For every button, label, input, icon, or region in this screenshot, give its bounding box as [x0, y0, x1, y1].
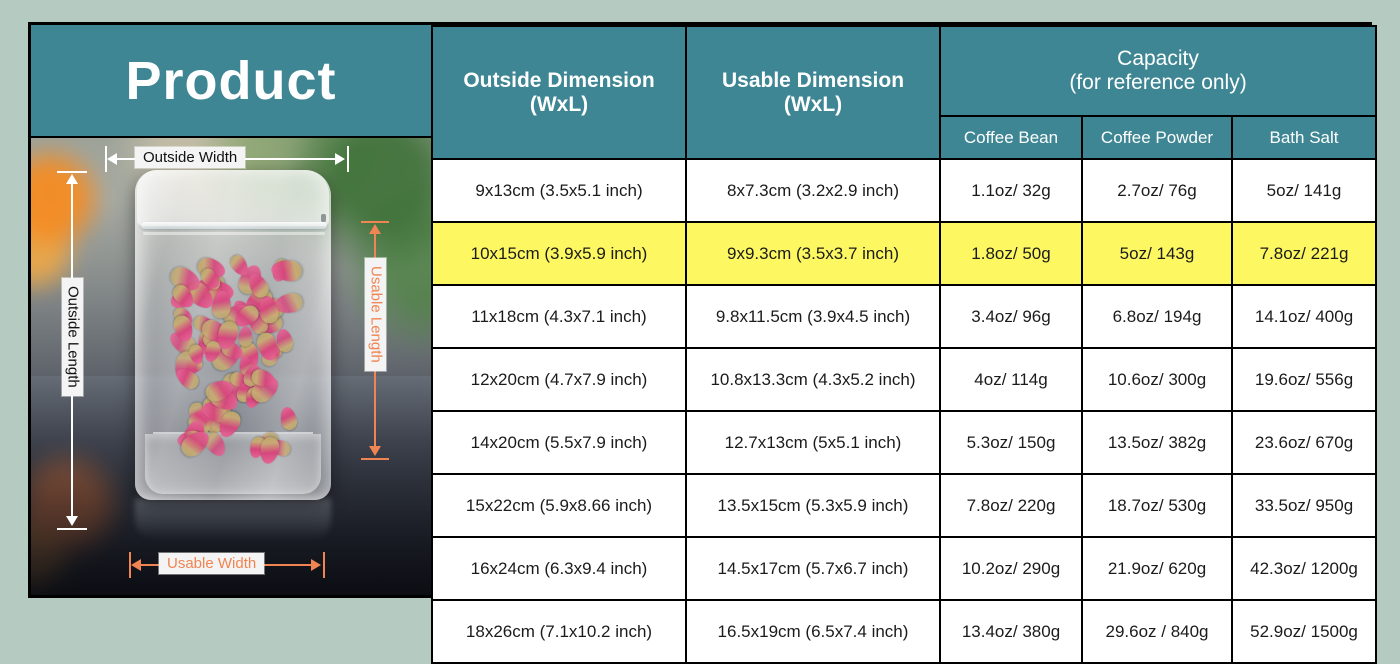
col-header-bath-salt: Bath Salt: [1232, 116, 1376, 159]
table-head: Outside Dimension (WxL) Usable Dimension…: [432, 26, 1376, 159]
cell-usable-dimension: 8x7.3cm (3.2x2.9 inch): [686, 159, 940, 222]
cell-coffee-bean: 3.4oz/ 96g: [940, 285, 1082, 348]
usable-length-arrowhead-top: [369, 224, 381, 234]
cell-bath-salt: 5oz/ 141g: [1232, 159, 1376, 222]
cell-outside-dimension: 14x20cm (5.5x7.9 inch): [432, 411, 686, 474]
usable-dimension-line1: Usable Dimension: [722, 69, 904, 92]
col-header-coffee-powder: Coffee Powder: [1082, 116, 1232, 159]
spec-table: Outside Dimension (WxL) Usable Dimension…: [431, 25, 1377, 664]
cell-outside-dimension: 18x26cm (7.1x10.2 inch): [432, 600, 686, 663]
usable-length-cap-top: [361, 221, 389, 223]
cell-coffee-powder: 18.7oz/ 530g: [1082, 474, 1232, 537]
header-row-main: Outside Dimension (WxL) Usable Dimension…: [432, 26, 1376, 116]
outside-width-arrowhead-left: [107, 153, 117, 165]
usable-length-arrowhead-bottom: [369, 446, 381, 456]
cell-bath-salt: 7.8oz/ 221g: [1232, 222, 1376, 285]
outside-length-arrowhead-top: [66, 174, 78, 184]
table-row: 15x22cm (5.9x8.66 inch)13.5x15cm (5.3x5.…: [432, 474, 1376, 537]
cell-bath-salt: 19.6oz/ 556g: [1232, 348, 1376, 411]
cell-bath-salt: 52.9oz/ 1500g: [1232, 600, 1376, 663]
cell-coffee-powder: 10.6oz/ 300g: [1082, 348, 1232, 411]
product-panel: Product Outside Width: [31, 25, 431, 595]
table-row: 16x24cm (6.3x9.4 inch)14.5x17cm (5.7x6.7…: [432, 537, 1376, 600]
cell-coffee-powder: 21.9oz/ 620g: [1082, 537, 1232, 600]
cell-usable-dimension: 16.5x19cm (6.5x7.4 inch): [686, 600, 940, 663]
outside-length-cap-bottom: [57, 528, 87, 530]
usable-dimension-line2: (WxL): [784, 93, 842, 116]
col-header-capacity: Capacity (for reference only): [940, 26, 1376, 116]
cell-coffee-powder: 6.8oz/ 194g: [1082, 285, 1232, 348]
cell-usable-dimension: 9x9.3cm (3.5x3.7 inch): [686, 222, 940, 285]
table-row: 10x15cm (3.9x5.9 inch)9x9.3cm (3.5x3.7 i…: [432, 222, 1376, 285]
cell-usable-dimension: 14.5x17cm (5.7x6.7 inch): [686, 537, 940, 600]
table-body: 9x13cm (3.5x5.1 inch)8x7.3cm (3.2x2.9 in…: [432, 159, 1376, 663]
col-header-coffee-bean: Coffee Bean: [940, 116, 1082, 159]
col-header-outside-dimension: Outside Dimension (WxL): [432, 26, 686, 159]
cell-coffee-powder: 13.5oz/ 382g: [1082, 411, 1232, 474]
cell-coffee-bean: 10.2oz/ 290g: [940, 537, 1082, 600]
outside-dimension-line2: (WxL): [530, 93, 588, 116]
cell-usable-dimension: 10.8x13.3cm (4.3x5.2 inch): [686, 348, 940, 411]
table-row: 12x20cm (4.7x7.9 inch)10.8x13.3cm (4.3x5…: [432, 348, 1376, 411]
capacity-line1: Capacity: [1117, 47, 1199, 70]
capacity-line2: (for reference only): [1069, 71, 1246, 94]
table-row: 9x13cm (3.5x5.1 inch)8x7.3cm (3.2x2.9 in…: [432, 159, 1376, 222]
pouch-reflection: [135, 498, 331, 540]
zipper-seal-secondary: [143, 232, 325, 235]
cell-bath-salt: 14.1oz/ 400g: [1232, 285, 1376, 348]
outside-length-cap-top: [57, 171, 87, 173]
cell-coffee-powder: 2.7oz/ 76g: [1082, 159, 1232, 222]
outside-dimension-line1: Outside Dimension: [463, 69, 654, 92]
cell-usable-dimension: 9.8x11.5cm (3.9x4.5 inch): [686, 285, 940, 348]
rosebud: [237, 326, 252, 347]
cell-usable-dimension: 13.5x15cm (5.3x5.9 inch): [686, 474, 940, 537]
cell-usable-dimension: 12.7x13cm (5x5.1 inch): [686, 411, 940, 474]
cell-outside-dimension: 12x20cm (4.7x7.9 inch): [432, 348, 686, 411]
cell-outside-dimension: 16x24cm (6.3x9.4 inch): [432, 537, 686, 600]
usable-width-arrowhead-right: [311, 559, 321, 571]
usable-width-cap-right: [323, 552, 325, 578]
pouch-top-panel: [137, 170, 329, 226]
cell-outside-dimension: 15x22cm (5.9x8.66 inch): [432, 474, 686, 537]
col-header-usable-dimension: Usable Dimension (WxL): [686, 26, 940, 159]
rosebud: [278, 405, 298, 431]
cell-coffee-bean: 1.8oz/ 50g: [940, 222, 1082, 285]
cell-coffee-bean: 7.8oz/ 220g: [940, 474, 1082, 537]
cell-coffee-bean: 5.3oz/ 150g: [940, 411, 1082, 474]
cell-coffee-bean: 4oz/ 114g: [940, 348, 1082, 411]
zipper-seal: [141, 222, 327, 229]
cell-bath-salt: 42.3oz/ 1200g: [1232, 537, 1376, 600]
usable-width-label: Usable Width: [159, 553, 264, 574]
cell-coffee-bean: 1.1oz/ 32g: [940, 159, 1082, 222]
cell-outside-dimension: 11x18cm (4.3x7.1 inch): [432, 285, 686, 348]
table-row: 11x18cm (4.3x7.1 inch)9.8x11.5cm (3.9x4.…: [432, 285, 1376, 348]
outside-width-label: Outside Width: [135, 147, 245, 168]
tear-notch: [321, 214, 326, 222]
usable-width-arrowhead-left: [131, 559, 141, 571]
table-row: 14x20cm (5.5x7.9 inch)12.7x13cm (5x5.1 i…: [432, 411, 1376, 474]
outside-length-label: Outside Length: [62, 278, 83, 396]
cell-coffee-powder: 29.6oz / 840g: [1082, 600, 1232, 663]
usable-length-cap-bottom: [361, 458, 389, 460]
cell-bath-salt: 23.6oz/ 670g: [1232, 411, 1376, 474]
cell-coffee-powder: 5oz/ 143g: [1082, 222, 1232, 285]
spec-table-wrap: Outside Dimension (WxL) Usable Dimension…: [431, 25, 1377, 595]
outside-length-arrowhead-bottom: [66, 516, 78, 526]
spec-table-frame: Product Outside Width: [28, 22, 1372, 598]
product-photo: Outside Width Outside Length Usable Leng…: [31, 138, 431, 595]
outside-width-arrowhead-right: [335, 153, 345, 165]
outside-width-cap-right: [347, 146, 349, 172]
product-title-cell: Product: [31, 25, 431, 138]
cell-outside-dimension: 9x13cm (3.5x5.1 inch): [432, 159, 686, 222]
pouch-graphic: [135, 170, 331, 500]
usable-length-label: Usable Length: [365, 258, 386, 371]
page-title: Product: [125, 54, 336, 108]
rosebud-contents: [169, 252, 299, 464]
cell-outside-dimension: 10x15cm (3.9x5.9 inch): [432, 222, 686, 285]
cell-bath-salt: 33.5oz/ 950g: [1232, 474, 1376, 537]
table-row: 18x26cm (7.1x10.2 inch)16.5x19cm (6.5x7.…: [432, 600, 1376, 663]
cell-coffee-bean: 13.4oz/ 380g: [940, 600, 1082, 663]
